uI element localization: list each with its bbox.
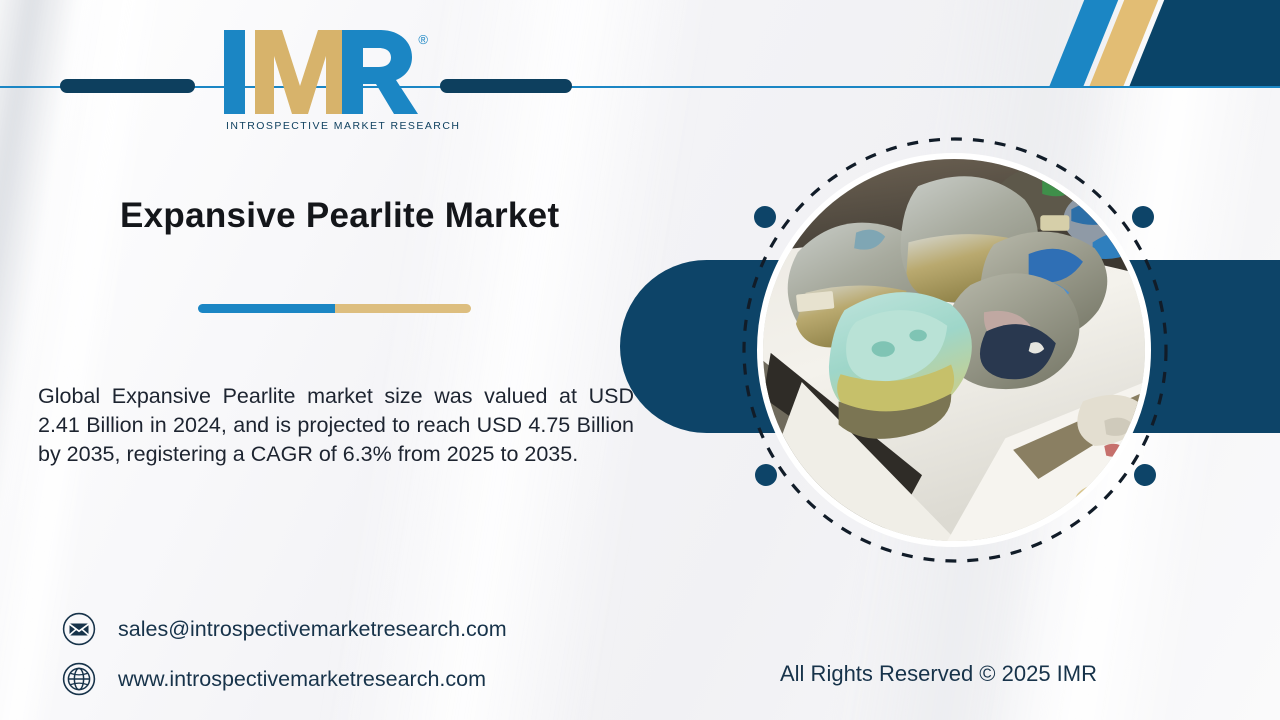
page-title: Expansive Pearlite Market — [120, 196, 660, 236]
website-url[interactable]: www.introspectivemarketresearch.com — [118, 667, 486, 692]
cover-photo — [757, 153, 1151, 547]
contact-block: sales@introspectivemarketresearch.com ww… — [62, 605, 682, 705]
email-address[interactable]: sales@introspectivemarketresearch.com — [118, 617, 507, 642]
globe-icon — [62, 662, 96, 696]
corner-stripes-decoration — [1020, 0, 1280, 88]
contact-row-website[interactable]: www.introspectivemarketresearch.com — [62, 655, 682, 703]
divider-segment-tan — [335, 304, 472, 313]
envelope-icon — [62, 612, 96, 646]
imr-logo: ® INTROSPECTIVE MARKET RESEARCH — [222, 26, 422, 138]
contact-row-email[interactable]: sales@introspectivemarketresearch.com — [62, 605, 682, 653]
logo-letters-imr — [222, 26, 422, 114]
header-bar-left — [60, 79, 195, 93]
rights-reserved-text: All Rights Reserved © 2025 IMR — [780, 661, 1097, 687]
title-divider — [198, 304, 471, 313]
header-bar-right — [440, 79, 572, 93]
market-summary-text: Global Expansive Pearlite market size wa… — [38, 382, 634, 469]
registered-mark-icon: ® — [418, 32, 428, 47]
divider-segment-blue — [198, 304, 335, 313]
report-cover-slide: ® INTROSPECTIVE MARKET RESEARCH Expansiv… — [0, 0, 1280, 720]
logo-mark: ® — [222, 26, 422, 114]
pearlite-rock-photo — [763, 159, 1145, 541]
logo-tagline: INTROSPECTIVE MARKET RESEARCH — [226, 120, 422, 132]
